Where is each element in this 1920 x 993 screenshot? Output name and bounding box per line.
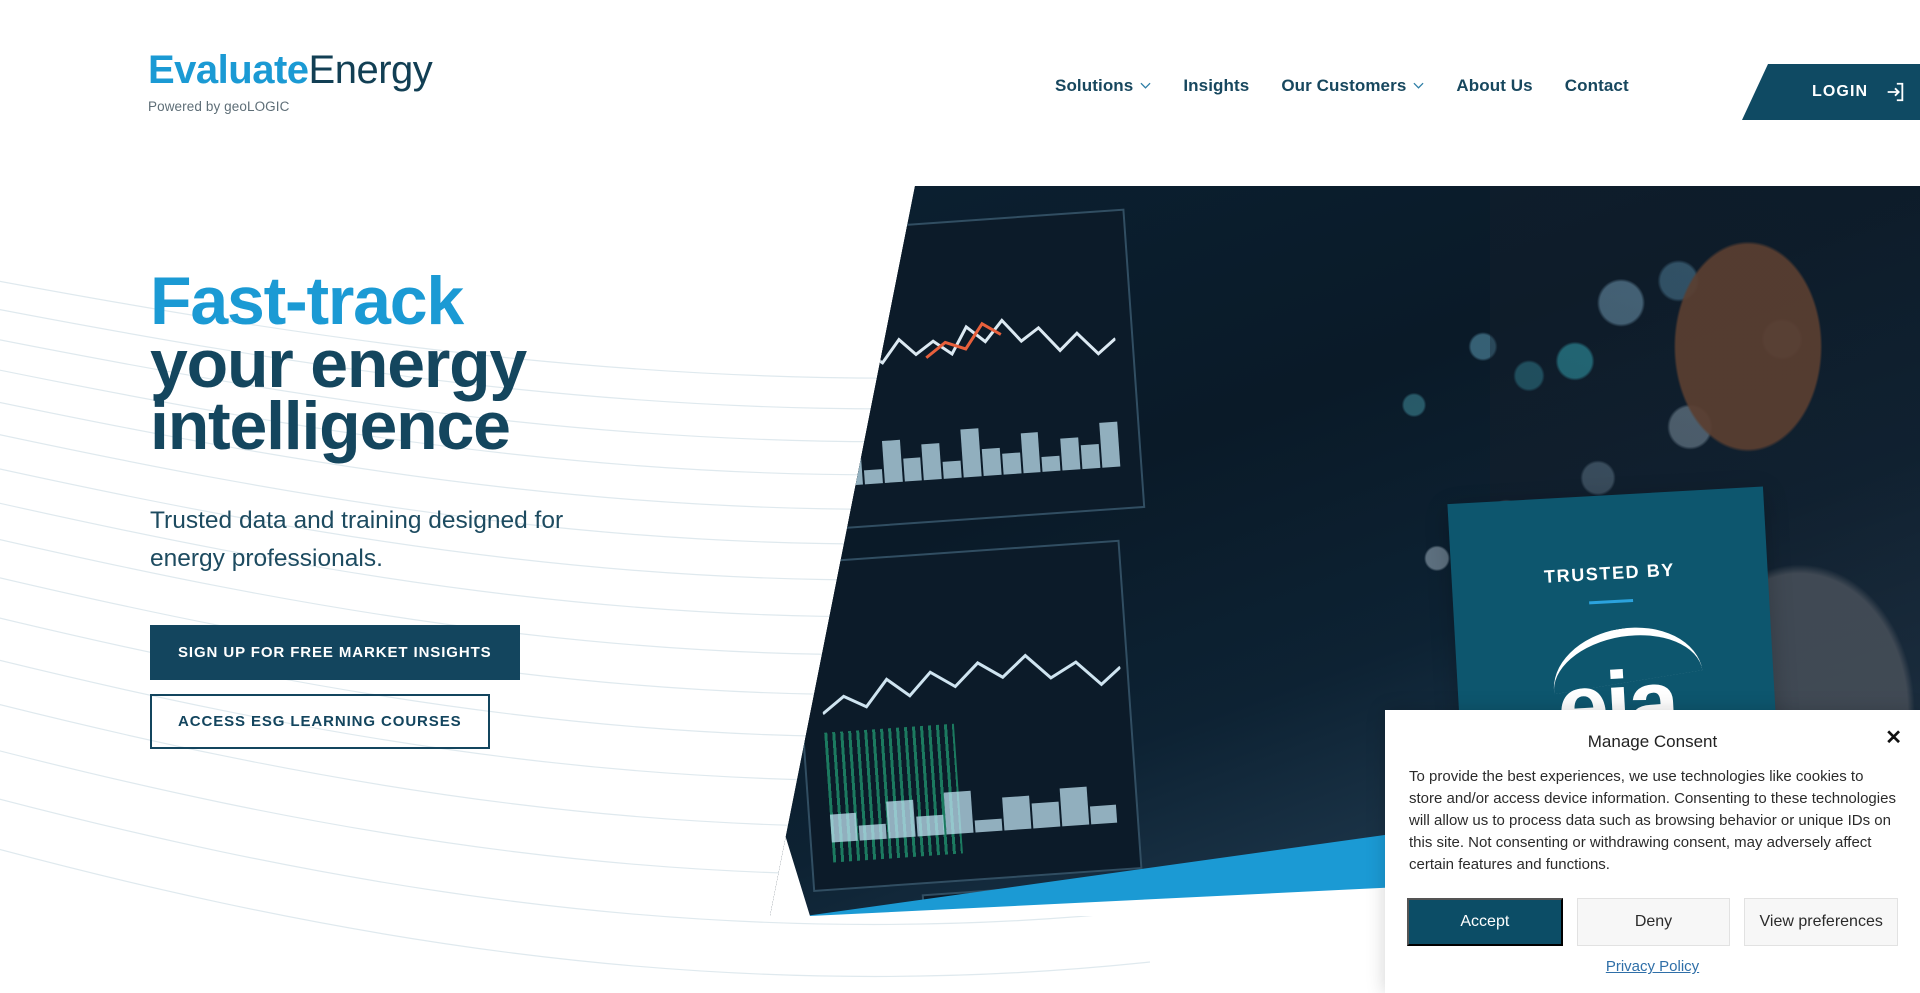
trusted-by-title: TRUSTED BY [1544, 560, 1676, 588]
privacy-policy-link[interactable]: Privacy Policy [1407, 958, 1898, 975]
nav-item-about-us[interactable]: About Us [1456, 76, 1532, 96]
consent-body-text: To provide the best experiences, we use … [1407, 762, 1898, 876]
nav-label-solutions: Solutions [1055, 76, 1133, 96]
consent-title: Manage Consent [1588, 732, 1717, 751]
page-root: TRUSTED BY eia EvaluateEnergy Powered by… [0, 0, 1920, 993]
view-preferences-button[interactable]: View preferences [1744, 898, 1898, 946]
main-navigation: Solutions Insights Our Customers About U… [1055, 76, 1629, 96]
signup-market-insights-button[interactable]: SIGN UP FOR FREE MARKET INSIGHTS [150, 625, 520, 680]
volume-bars-1 [821, 406, 1120, 486]
monitor-2 [790, 540, 1142, 892]
heading-line-3: intelligence [150, 395, 770, 458]
login-button[interactable]: LOGIN [1742, 64, 1920, 120]
heading-line-2: your energy [150, 333, 770, 396]
heading-line-1: Fast-track [150, 270, 770, 333]
nav-item-insights[interactable]: Insights [1183, 76, 1249, 96]
accept-button[interactable]: Accept [1407, 898, 1563, 946]
monitor-1 [785, 209, 1145, 532]
swoosh-icon [1545, 617, 1702, 694]
nav-item-our-customers[interactable]: Our Customers [1281, 76, 1424, 96]
deny-button[interactable]: Deny [1577, 898, 1731, 946]
cookie-consent-dialog: Manage Consent ✕ To provide the best exp… [1385, 710, 1920, 993]
ticker-dots-1 [802, 243, 830, 336]
chevron-down-icon [1413, 80, 1424, 91]
hero-subtitle: Trusted data and training designed for e… [150, 502, 620, 579]
nav-label-about-us: About Us [1456, 76, 1532, 96]
chevron-down-icon [1140, 80, 1151, 91]
login-arrow-icon [1884, 81, 1906, 103]
trading-monitors [770, 186, 1353, 916]
login-label: LOGIN [1812, 83, 1868, 101]
hero-content: Fast-track your energy intelligence Trus… [150, 270, 770, 749]
hero-cta-group: SIGN UP FOR FREE MARKET INSIGHTS ACCESS … [150, 625, 770, 749]
close-icon[interactable]: ✕ [1885, 728, 1902, 748]
trusted-by-underline [1589, 599, 1633, 604]
nav-item-contact[interactable]: Contact [1565, 76, 1629, 96]
logo-primary-text: Evaluate [148, 48, 309, 92]
logo-secondary-text: Energy [309, 48, 433, 92]
page-title: Fast-track your energy intelligence [150, 270, 770, 458]
logo-tagline: Powered by geoLOGIC [148, 99, 432, 114]
consent-actions: Accept Deny View preferences [1407, 898, 1898, 946]
price-line-1 [813, 294, 1119, 405]
nav-label-contact: Contact [1565, 76, 1629, 96]
nav-item-solutions[interactable]: Solutions [1055, 76, 1151, 96]
site-logo[interactable]: EvaluateEnergy Powered by geoLOGIC [148, 50, 432, 114]
price-line-2 [818, 633, 1124, 744]
access-esg-courses-button[interactable]: ACCESS ESG LEARNING COURSES [150, 694, 490, 749]
nav-label-insights: Insights [1183, 76, 1249, 96]
consent-header: Manage Consent ✕ [1407, 728, 1898, 762]
site-header: EvaluateEnergy Powered by geoLOGIC Solut… [0, 0, 1920, 152]
nav-label-our-customers: Our Customers [1281, 76, 1406, 96]
